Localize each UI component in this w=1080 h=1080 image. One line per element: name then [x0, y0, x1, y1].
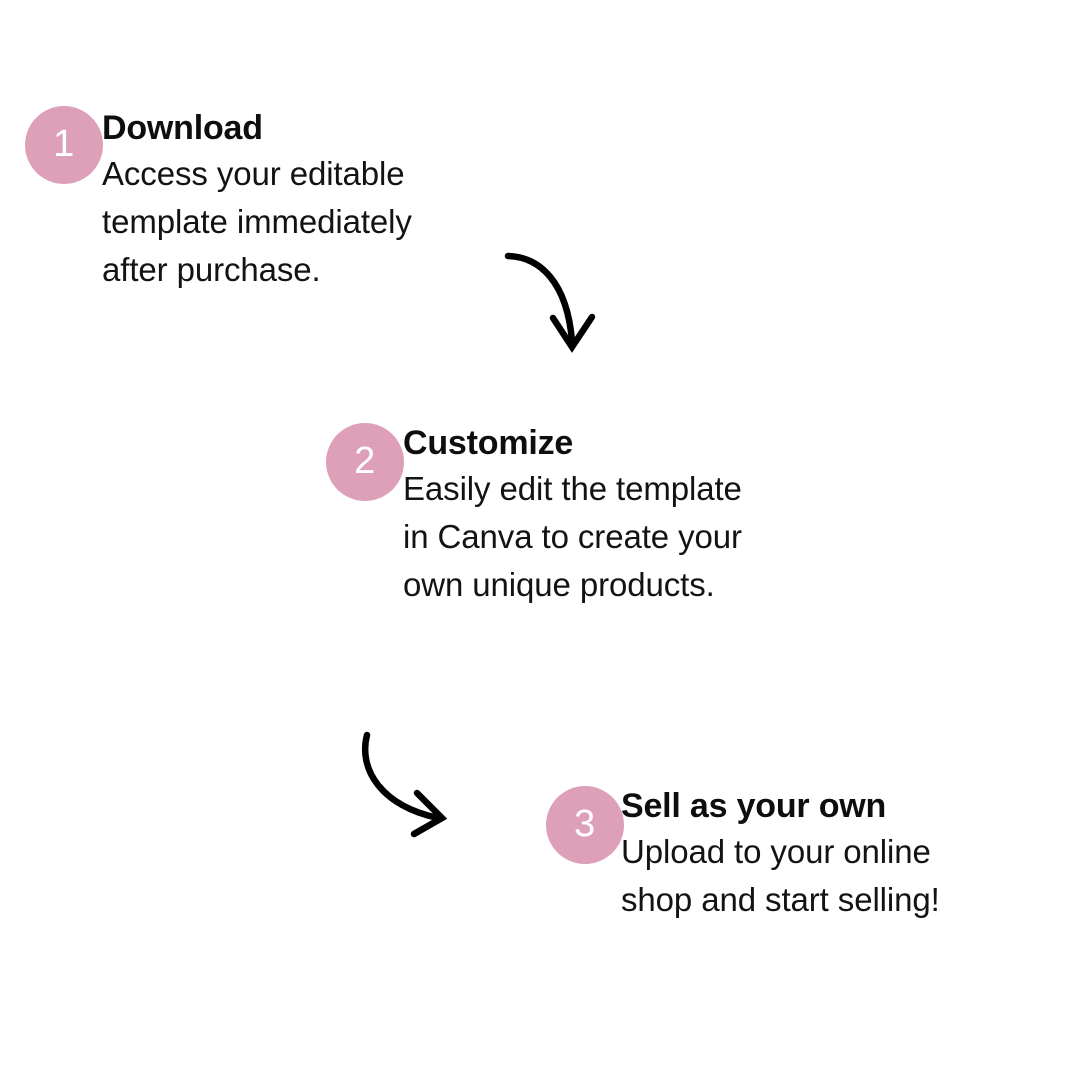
step-3-text-block: Sell as your own Upload to your online s… — [621, 784, 951, 924]
step-2-number-badge: 2 — [326, 423, 404, 501]
step-1-number-badge: 1 — [25, 106, 103, 184]
step-1-text-block: Download Access your editable template i… — [102, 106, 452, 294]
curved-arrow-right-icon — [352, 722, 472, 847]
curved-arrow-down-icon — [495, 240, 625, 370]
step-1-body: Access your editable template immediatel… — [102, 150, 452, 294]
step-1-number: 1 — [53, 125, 75, 163]
step-2-title: Customize — [403, 421, 743, 465]
step-2-body: Easily edit the template in Canva to cre… — [403, 465, 743, 609]
step-3-title: Sell as your own — [621, 784, 951, 828]
step-2-number: 2 — [354, 442, 376, 480]
step-3-number-badge: 3 — [546, 786, 624, 864]
step-3-body: Upload to your online shop and start sel… — [621, 828, 951, 924]
step-1-title: Download — [102, 106, 452, 150]
step-2-text-block: Customize Easily edit the template in Ca… — [403, 421, 743, 609]
step-3-number: 3 — [574, 805, 596, 843]
infographic-canvas: 1 Download Access your editable template… — [0, 0, 1080, 1080]
